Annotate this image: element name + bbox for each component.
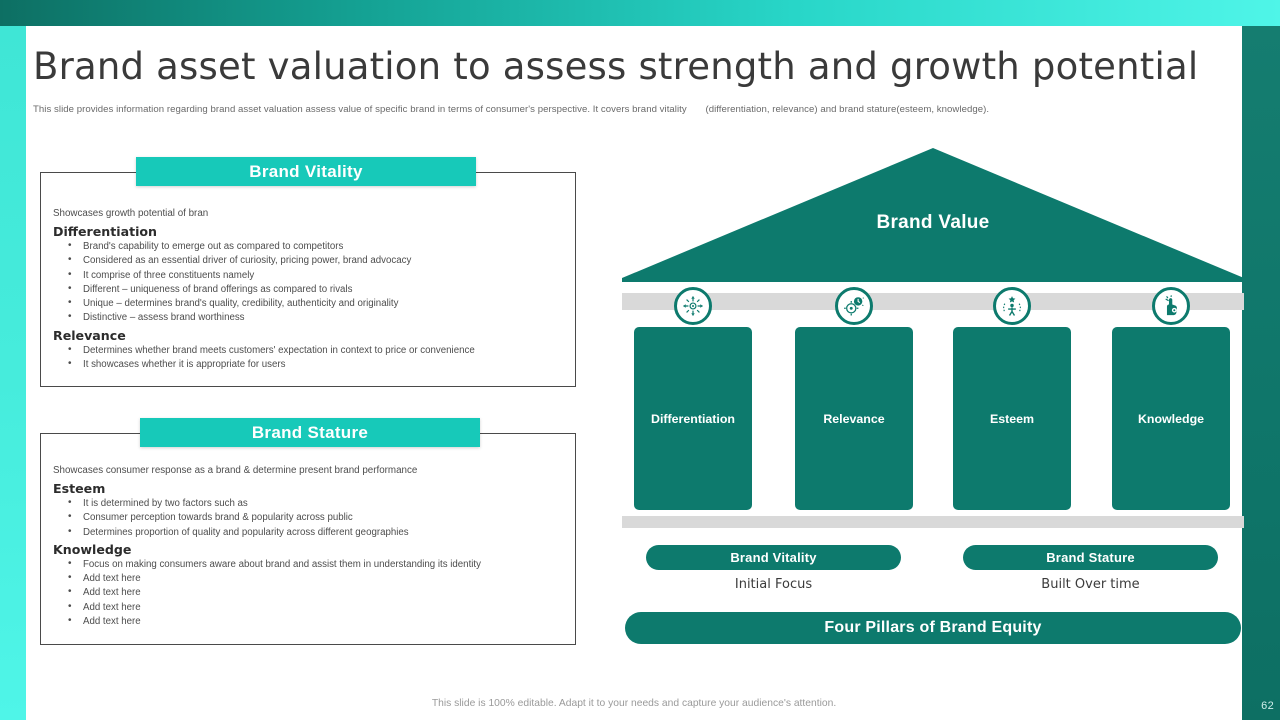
architrave-bar-top: [622, 293, 1244, 310]
person-star-icon: [993, 287, 1031, 325]
list-item: Different – uniqueness of brand offering…: [55, 283, 563, 297]
list-item: Add text here: [55, 572, 563, 586]
pillar-relevance: Relevance: [795, 327, 913, 510]
list-item: Brand's capability to emerge out as comp…: [55, 240, 563, 254]
section-heading-relevance: Relevance: [53, 327, 563, 344]
brand-vitality-header-band: Brand Vitality: [136, 157, 476, 186]
list-item: Add text here: [55, 586, 563, 600]
brand-vitality-content: Showcases growth potential of bran Diffe…: [41, 173, 575, 386]
list-item: Focus on making consumers aware about br…: [55, 558, 563, 572]
section-heading-esteem: Esteem: [53, 480, 563, 497]
subtitle-part-1: This slide provides information regardin…: [33, 104, 687, 115]
list-item: It comprise of three constituents namely: [55, 269, 563, 283]
base-bar-bottom: [622, 516, 1244, 528]
chip-brand-stature: Brand Stature: [963, 545, 1218, 570]
panel-lead-text: Showcases consumer response as a brand &…: [53, 464, 563, 478]
relevance-bullet-list: Determines whether brand meets customers…: [55, 344, 563, 373]
list-item: Consumer perception towards brand & popu…: [55, 511, 563, 525]
knowledge-bullet-list: Focus on making consumers aware about br…: [55, 558, 563, 629]
list-item: It showcases whether it is appropriate f…: [55, 358, 563, 372]
pillar-esteem: Esteem: [953, 327, 1071, 510]
caption-initial-focus: Initial Focus: [646, 577, 901, 592]
four-pillars-banner: Four Pillars of Brand Equity: [625, 612, 1241, 644]
chip-brand-vitality: Brand Vitality: [646, 545, 901, 570]
slide-footer-note: This slide is 100% editable. Adapt it to…: [26, 698, 1242, 709]
esteem-bullet-list: It is determined by two factors such as …: [55, 497, 563, 540]
slide-subtitle: This slide provides information regardin…: [33, 103, 1218, 117]
pillar-knowledge: Knowledge: [1112, 327, 1230, 510]
brand-stature-content: Showcases consumer response as a brand &…: [41, 434, 575, 644]
decorative-left-border: [0, 26, 26, 720]
hand-idea-icon: [1152, 287, 1190, 325]
list-item: Add text here: [55, 615, 563, 629]
differentiation-bullet-list: Brand's capability to emerge out as comp…: [55, 240, 563, 326]
brand-stature-header-band: Brand Stature: [140, 418, 480, 447]
list-item: Distinctive – assess brand worthiness: [55, 311, 563, 325]
brand-equity-temple-diagram: Brand Value: [612, 140, 1248, 660]
list-item: Add text here: [55, 601, 563, 615]
list-item: Determines proportion of quality and pop…: [55, 526, 563, 540]
gear-settings-icon: [835, 287, 873, 325]
target-crosshair-icon: [674, 287, 712, 325]
section-heading-knowledge: Knowledge: [53, 541, 563, 558]
page-number: 62: [1261, 700, 1274, 712]
list-item: Determines whether brand meets customers…: [55, 344, 563, 358]
brand-stature-panel: Showcases consumer response as a brand &…: [40, 433, 576, 645]
page-title: Brand asset valuation to assess strength…: [33, 44, 1213, 90]
list-item: Considered as an essential driver of cur…: [55, 254, 563, 268]
list-item: Unique – determines brand's quality, cre…: [55, 297, 563, 311]
slide-canvas: 62 Brand asset valuation to assess stren…: [0, 0, 1280, 720]
panel-lead-text: Showcases growth potential of bran: [53, 207, 563, 221]
subtitle-part-2: (differentiation, relevance) and brand s…: [689, 104, 989, 115]
section-heading-differentiation: Differentiation: [53, 223, 563, 240]
decorative-top-border: [0, 0, 1280, 26]
brand-value-label: Brand Value: [622, 212, 1244, 234]
brand-vitality-panel: Showcases growth potential of bran Diffe…: [40, 172, 576, 387]
list-item: It is determined by two factors such as: [55, 497, 563, 511]
caption-built-over-time: Built Over time: [963, 577, 1218, 592]
pillar-differentiation: Differentiation: [634, 327, 752, 510]
